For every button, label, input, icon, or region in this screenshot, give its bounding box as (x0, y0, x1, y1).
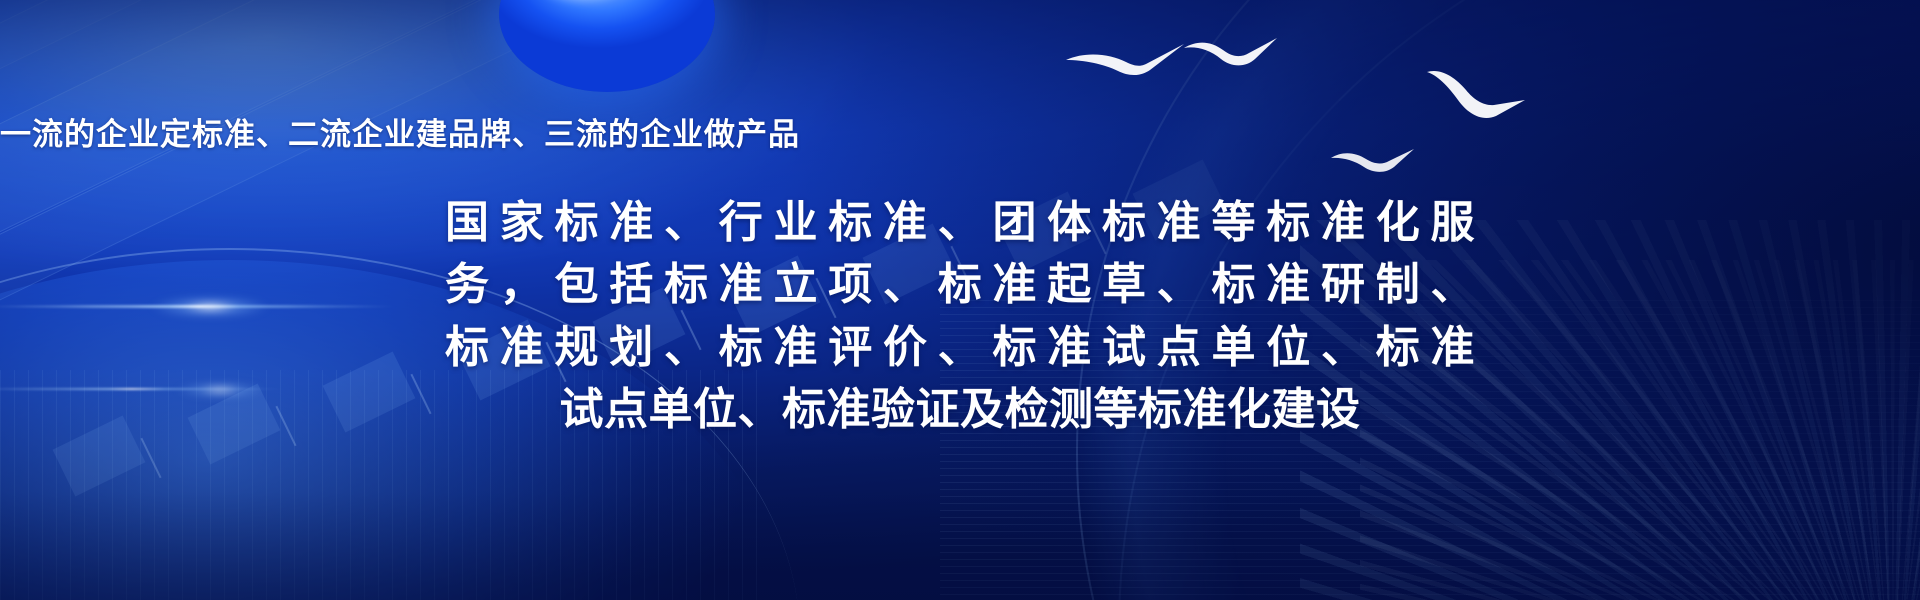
light-streak-1-core (150, 296, 270, 318)
seagull-icon-1 (1064, 38, 1188, 80)
banner-body-line-1: 国家标准、行业标准、团体标准等标准化服 (445, 192, 1475, 254)
blue-orb-icon (499, 0, 715, 92)
banner-body: 国家标准、行业标准、团体标准等标准化服 务，包括标准立项、标准起草、标准研制、 … (445, 192, 1475, 442)
banner-headline: 一流的企业定标准、二流企业建品牌、三流的企业做产品 (0, 116, 1920, 155)
banner-body-line-3: 标准规划、标准评价、标准试点单位、标准 (445, 317, 1475, 379)
banner-canvas: 一流的企业定标准、二流企业建品牌、三流的企业做产品 国家标准、行业标准、团体标准… (0, 0, 1920, 600)
banner-body-line-4: 试点单位、标准验证及检测等标准化建设 (445, 379, 1475, 441)
banner-body-line-2: 务，包括标准立项、标准起草、标准研制、 (445, 254, 1475, 316)
light-streak-2-core (175, 382, 265, 398)
seagull-icon-2 (1183, 36, 1279, 70)
